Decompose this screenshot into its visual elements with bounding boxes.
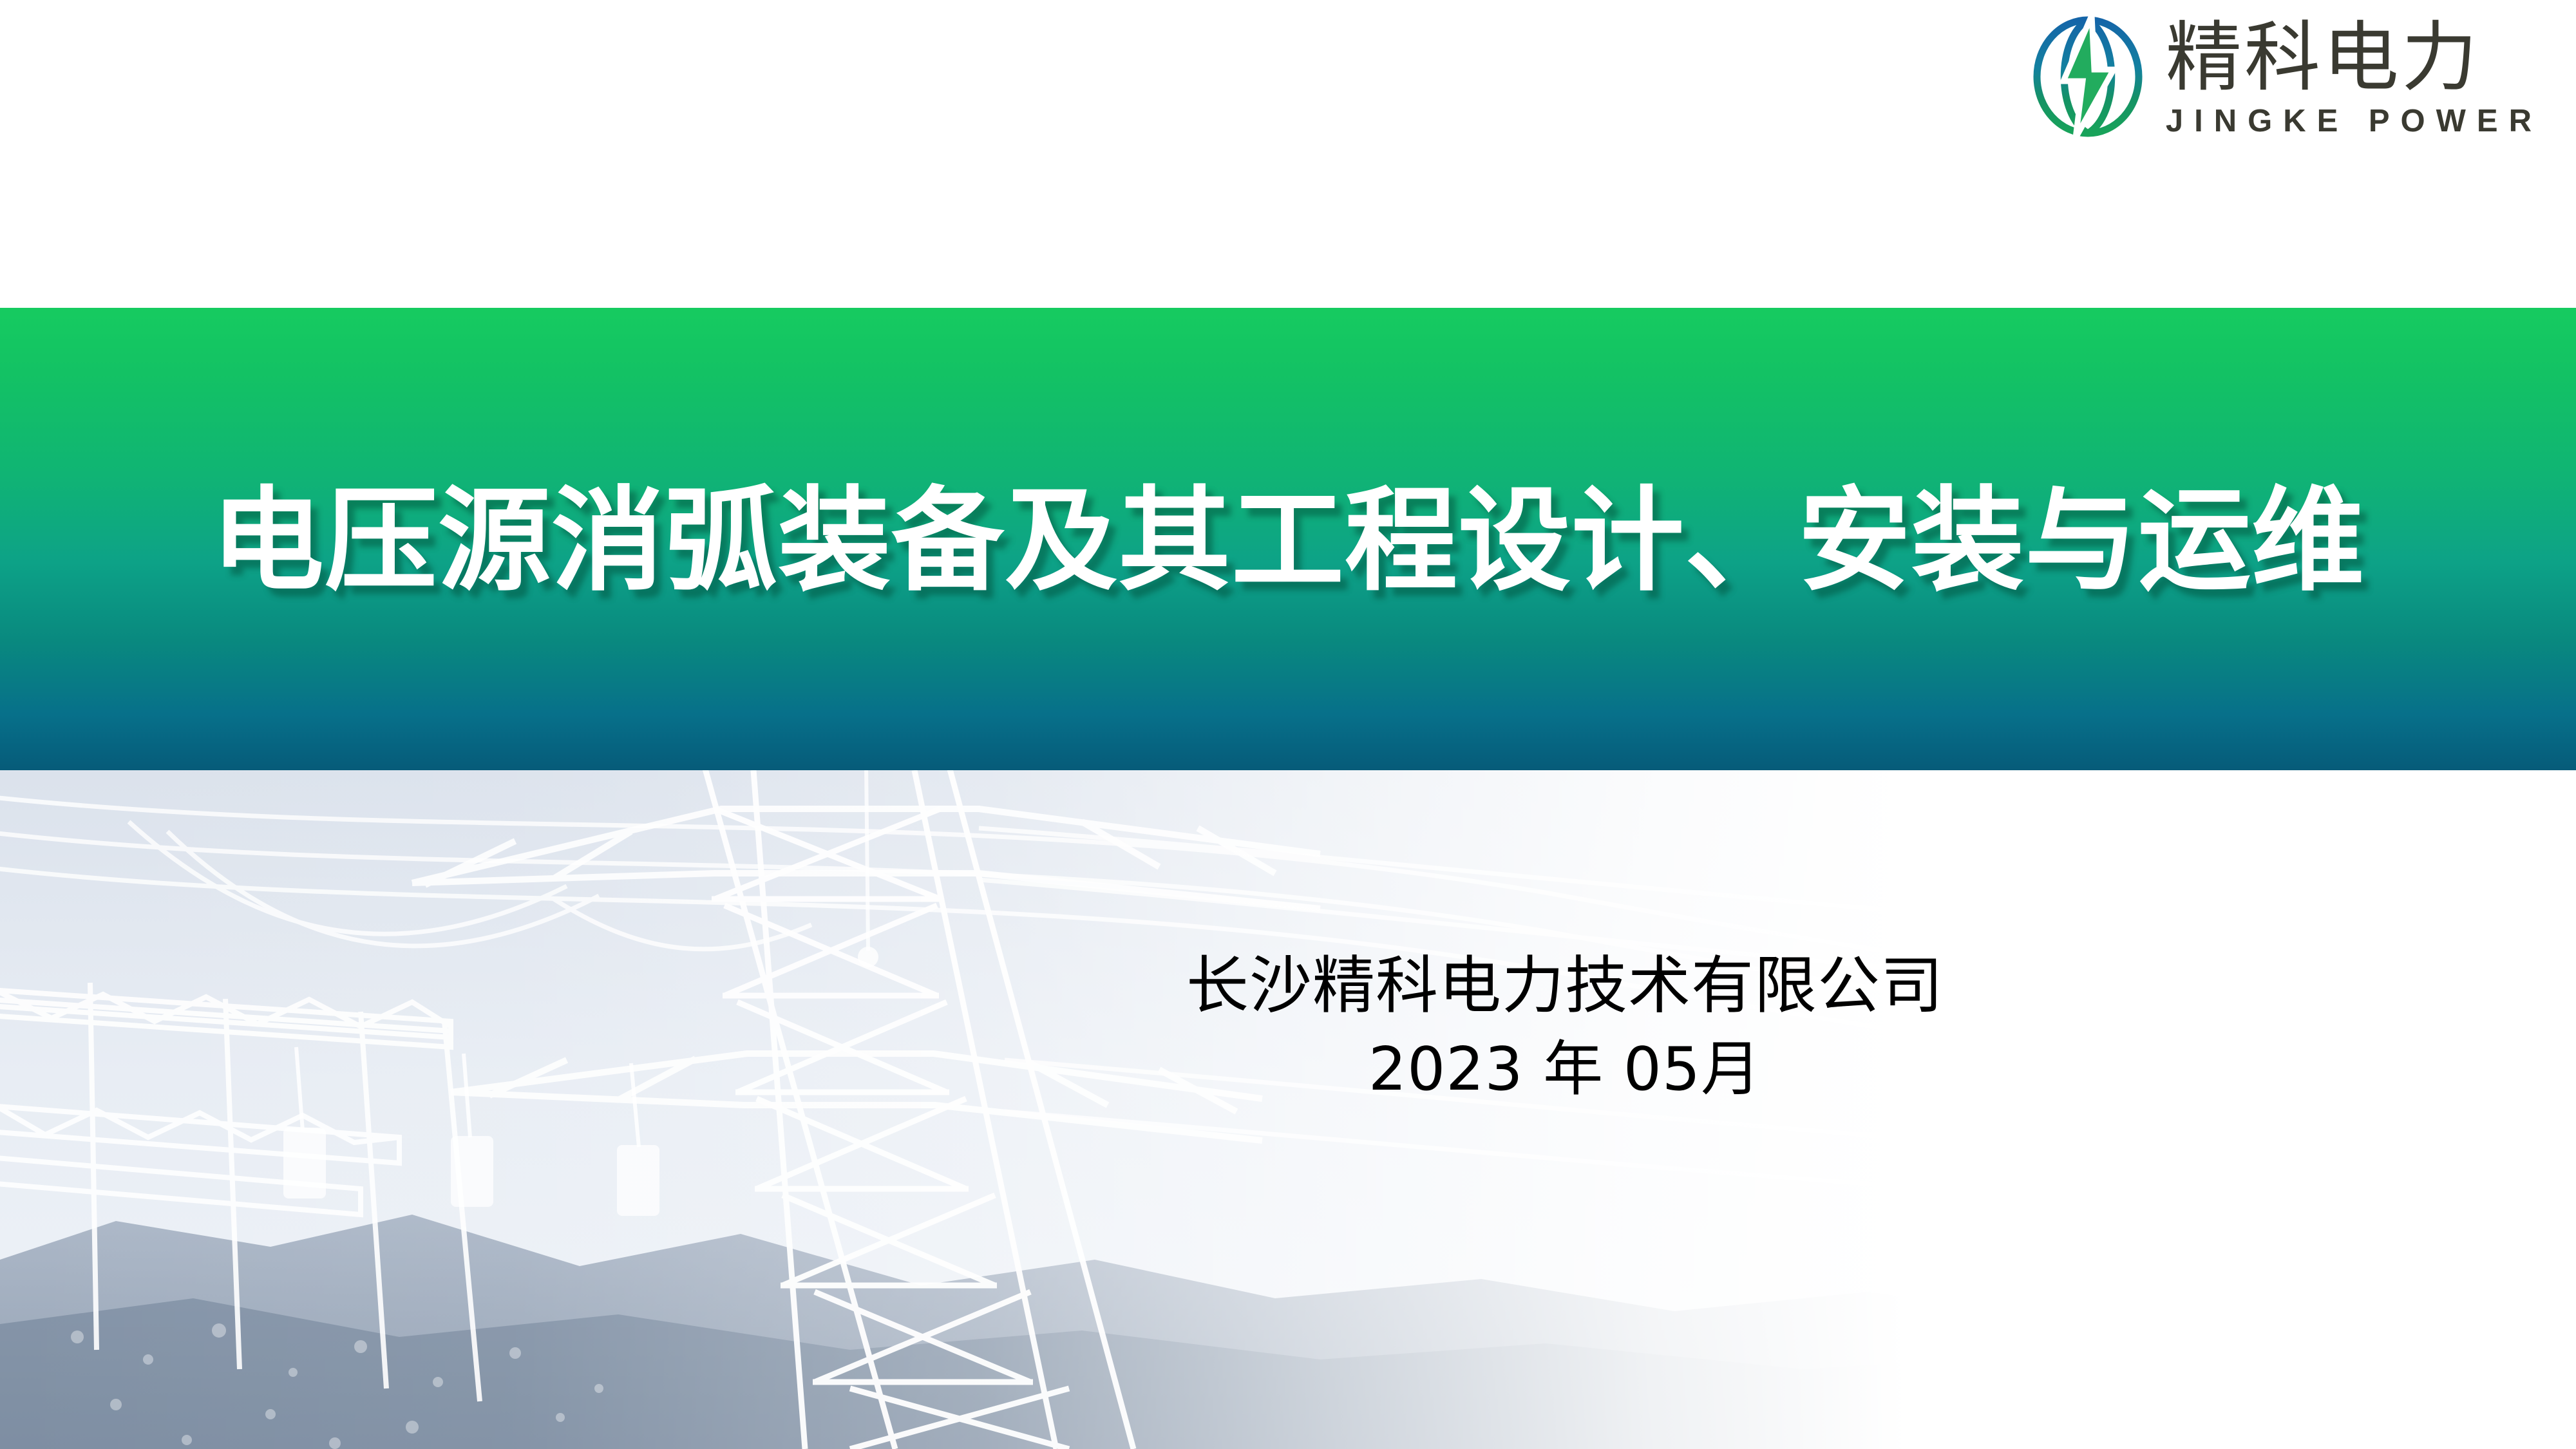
presenter-info: 长沙精科电力技术有限公司 2023 年 05月 (1082, 950, 2048, 1103)
logo-chinese-name: 精科电力 (2166, 19, 2480, 95)
transmission-tower-photo (0, 770, 2576, 1449)
title-slide: 精科电力 JINGKE POWER 电压源消弧装备及其工程设计、安装与运维 (0, 0, 2576, 1449)
company-logo: 精科电力 JINGKE POWER (2027, 14, 2543, 140)
presentation-date: 2023 年 05月 (1082, 1035, 2048, 1104)
page-title: 电压源消弧装备及其工程设计、安装与运维 (211, 480, 2365, 602)
company-name: 长沙精科电力技术有限公司 (1082, 950, 2048, 1022)
background-photo-area (0, 770, 2576, 1449)
slide-header: 精科电力 JINGKE POWER (0, 0, 2576, 308)
logo-english-name: JINGKE POWER (2166, 106, 2543, 137)
globe-lightning-icon (2027, 14, 2149, 140)
logo-wordmark: 精科电力 JINGKE POWER (2166, 17, 2543, 137)
title-banner: 电压源消弧装备及其工程设计、安装与运维 (0, 308, 2576, 770)
